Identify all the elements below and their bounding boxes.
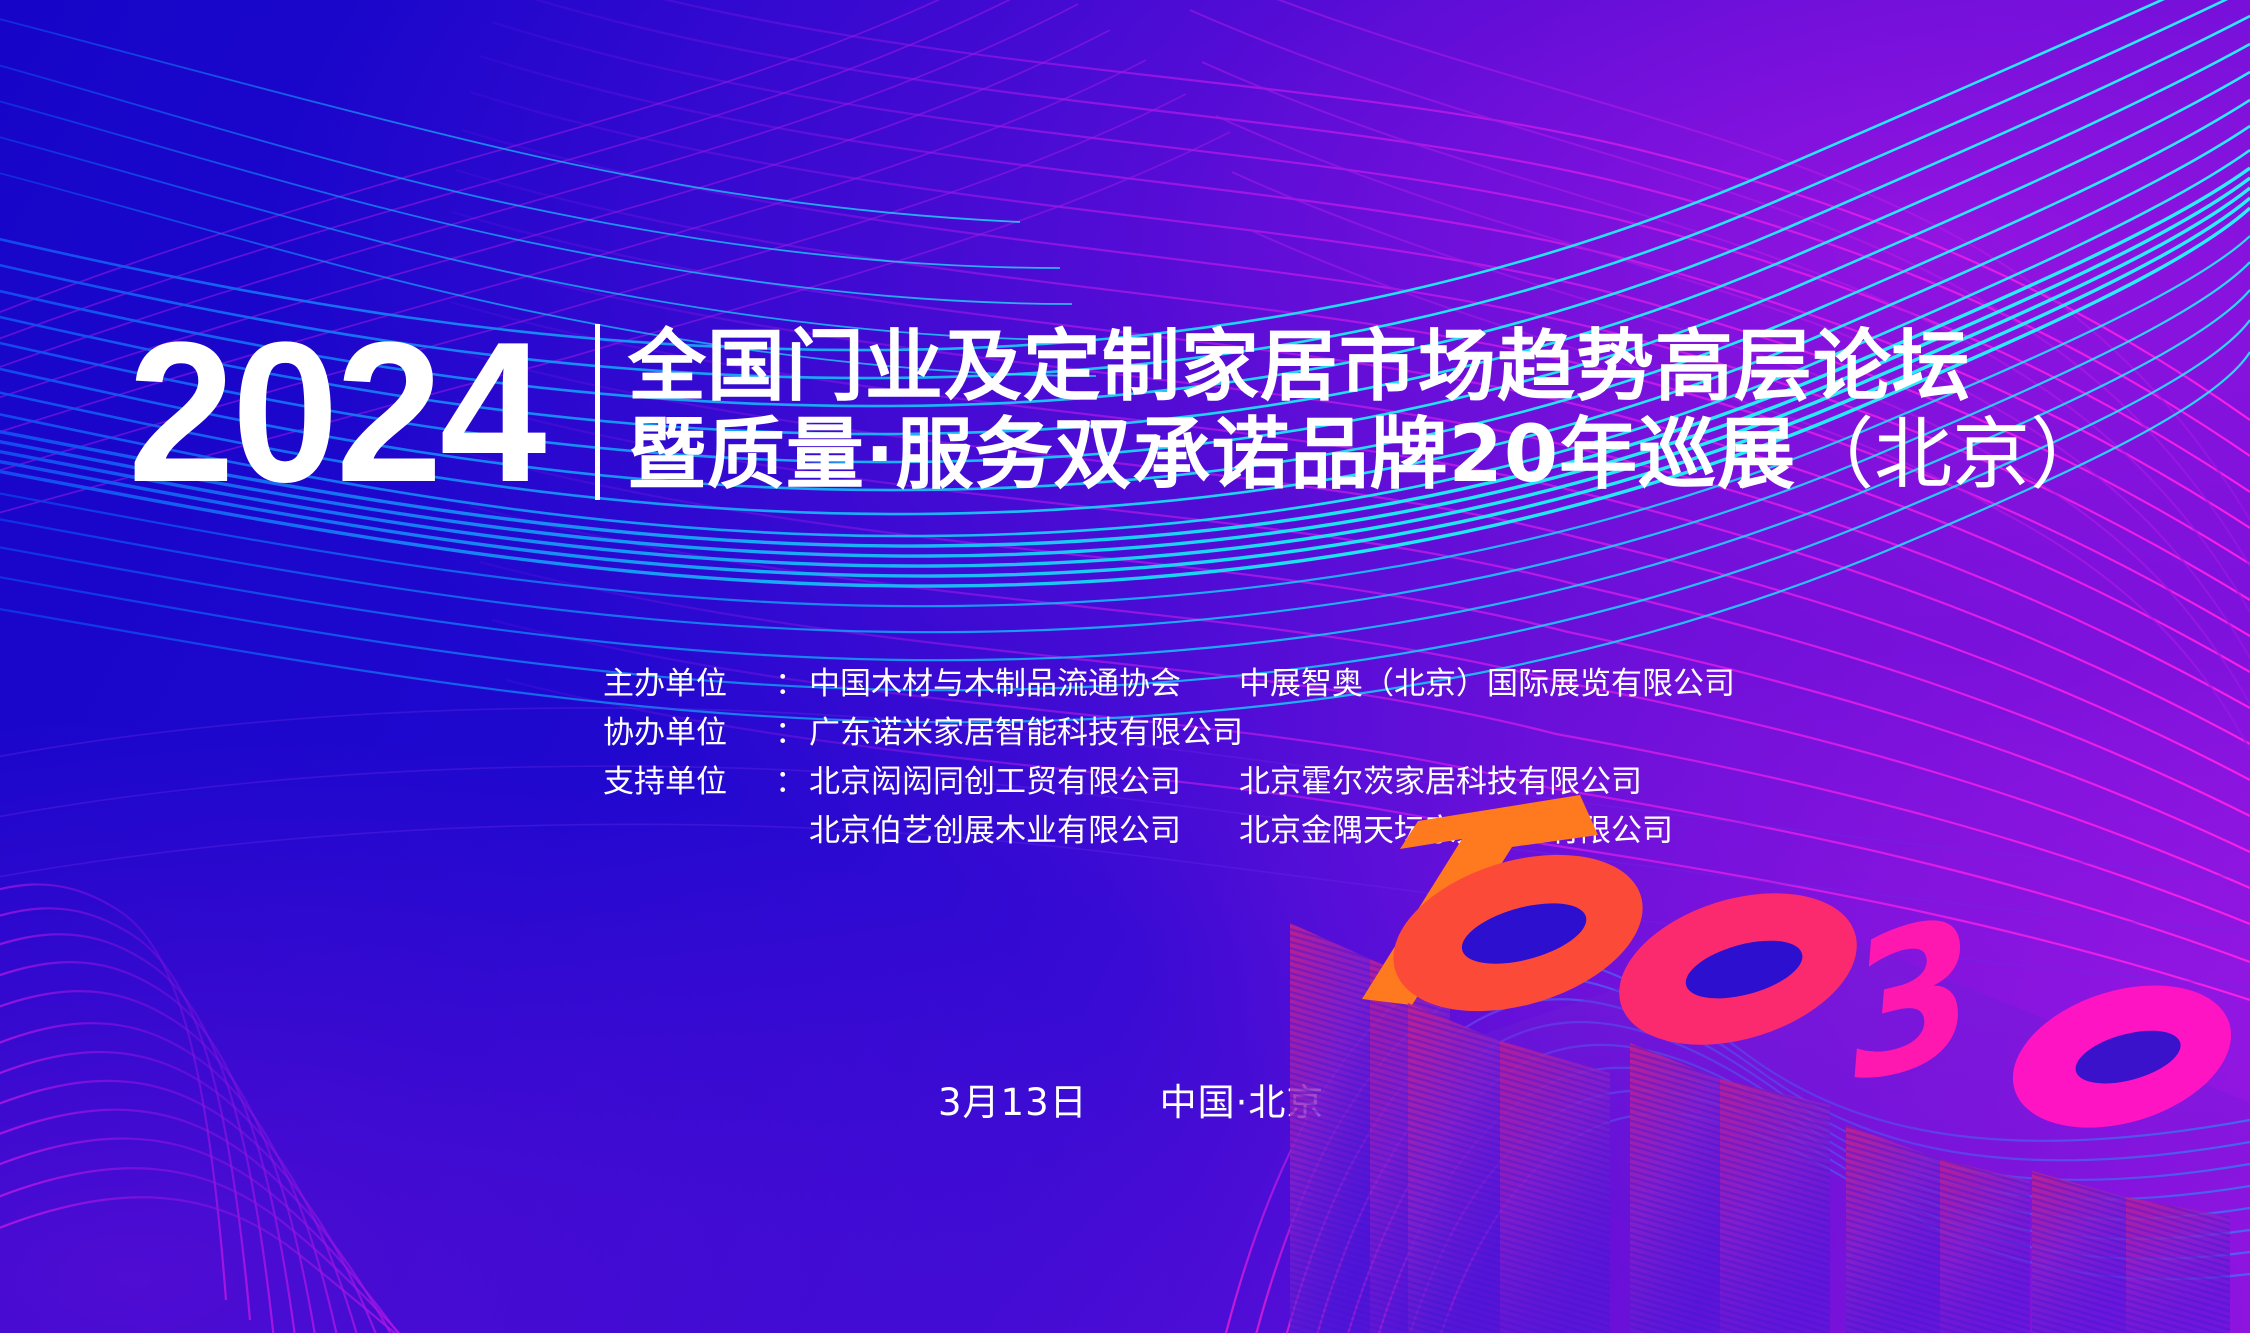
organizer-colon (775, 807, 809, 856)
organizer-label (603, 807, 775, 856)
organizer-colon: ： (775, 709, 809, 758)
organizer-block: 主办单位 ： 中国木材与木制品流通协会 中展智奥（北京）国际展览有限公司 协办单… (603, 660, 1735, 856)
organizer-label: 支持单位 (603, 758, 775, 807)
year-2024: 2024 (128, 318, 544, 502)
organizer-row: 支持单位 ： 北京闳闳同创工贸有限公司 北京霍尔茨家居科技有限公司 (603, 758, 1735, 807)
title-line-2: 暨质量·服务双承诺品牌20年巡展（北京） (628, 411, 2108, 499)
organizer-label: 主办单位 (603, 660, 775, 709)
organizer-colon: ： (775, 758, 809, 807)
organizer-name-secondary: 北京霍尔茨家居科技有限公司 (1239, 758, 1642, 807)
organizer-name-secondary: 中展智奥（北京）国际展览有限公司 (1239, 660, 1735, 709)
title-line-2-main: 暨质量·服务双承诺品牌20年巡展 (628, 410, 1796, 500)
organizer-colon: ： (775, 660, 809, 709)
title-line-1: 全国门业及定制家居市场趋势高层论坛 (628, 323, 2108, 411)
organizer-name-primary: 北京伯艺创展木业有限公司 (809, 807, 1239, 856)
organizer-row: 主办单位 ： 中国木材与木制品流通协会 中展智奥（北京）国际展览有限公司 (603, 660, 1735, 709)
title-line-2-city: （北京） (1796, 410, 2108, 500)
event-date: 3月13日 (938, 1081, 1088, 1124)
organizer-row: 协办单位 ： 广东诺米家居智能科技有限公司 (603, 709, 1735, 758)
organizer-row: 北京伯艺创展木业有限公司 北京金隅天坛家具股份有限公司 (603, 807, 1735, 856)
headline-block: 2024 全国门业及定制家居市场趋势高层论坛 暨质量·服务双承诺品牌20年巡展（… (128, 318, 2108, 502)
event-meta: 3月13日中国·北京 (938, 1082, 1324, 1124)
top30-artwork: 3 (1250, 773, 2250, 1333)
organizer-name-primary: 广东诺米家居智能科技有限公司 (809, 709, 1239, 758)
organizer-name-primary: 中国木材与木制品流通协会 (809, 660, 1239, 709)
title-lines: 全国门业及定制家居市场趋势高层论坛 暨质量·服务双承诺品牌20年巡展（北京） (628, 318, 2108, 502)
headline-divider (595, 324, 600, 500)
svg-text:3: 3 (1837, 875, 1987, 1127)
organizer-name-secondary: 北京金隅天坛家具股份有限公司 (1239, 807, 1673, 856)
poster-canvas: 2024 全国门业及定制家居市场趋势高层论坛 暨质量·服务双承诺品牌20年巡展（… (0, 0, 2250, 1333)
organizer-name-primary: 北京闳闳同创工贸有限公司 (809, 758, 1239, 807)
organizer-label: 协办单位 (603, 709, 775, 758)
event-location: 中国·北京 (1160, 1081, 1325, 1124)
